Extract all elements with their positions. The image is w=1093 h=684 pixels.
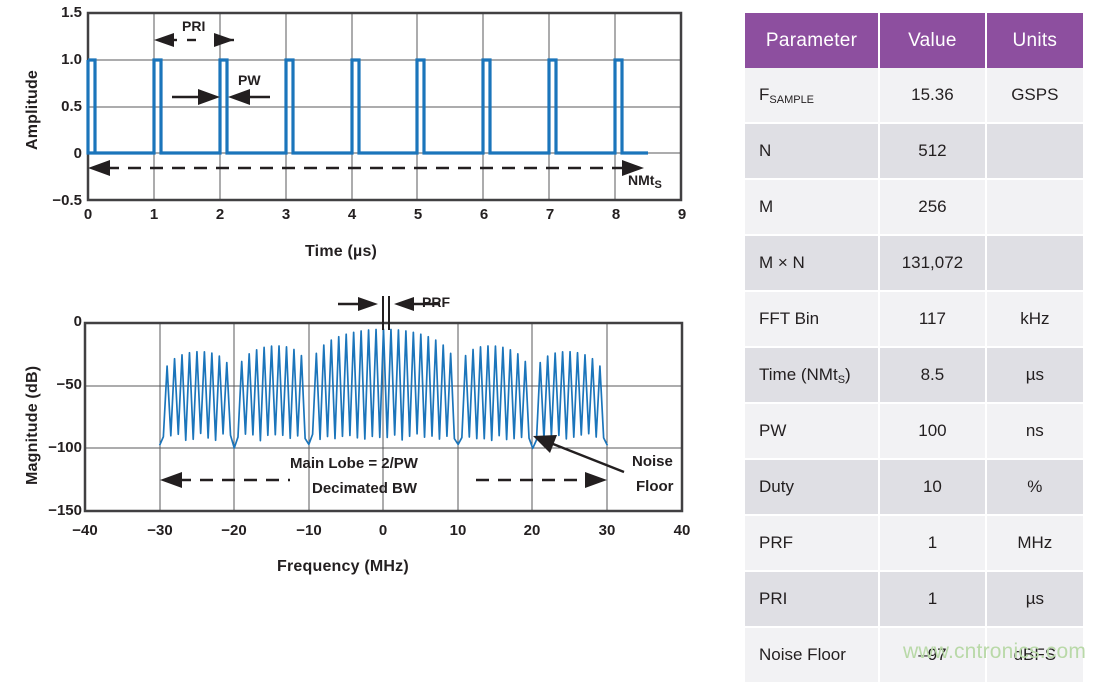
param-subscript: S <box>838 374 845 386</box>
decimated-bw-annotation-label: Decimated BW <box>312 480 417 497</box>
pulse-train-xtick-2: 2 <box>205 206 235 223</box>
spectrum-xtick-m10: −10 <box>284 522 334 539</box>
pulse-train-xtick-1: 1 <box>139 206 169 223</box>
pulse-train-xtick-6: 6 <box>469 206 499 223</box>
prf-annotation-label: PRF <box>422 294 450 310</box>
spectrum-ytick-0: 0 <box>30 313 82 330</box>
table-row: M 256 <box>745 179 1083 235</box>
param-text: F <box>759 85 769 104</box>
param-text: Noise Floor <box>759 645 846 664</box>
table-row: Duty 10 % <box>745 459 1083 515</box>
table-cell-units: kHz <box>986 291 1083 347</box>
figure-root: Amplitude 1.5 1.0 0.5 0 −0.5 0 1 2 3 4 5… <box>0 0 1093 673</box>
table-cell-value: –97 <box>879 627 986 683</box>
table-cell-value: 100 <box>879 403 986 459</box>
table-header-value: Value <box>879 13 986 68</box>
table-cell-value: 8.5 <box>879 347 986 403</box>
table-header-parameter: Parameter <box>745 13 879 68</box>
table-cell-parameter: PW <box>745 403 879 459</box>
spectrum-xtick-30: 30 <box>582 522 632 539</box>
pulse-train-xtick-0: 0 <box>73 206 103 223</box>
table-cell-units: MHz <box>986 515 1083 571</box>
param-text: PRI <box>759 589 787 608</box>
pri-annotation-label: PRI <box>182 18 205 34</box>
pulse-train-xtick-9: 9 <box>667 206 697 223</box>
spectrum-trace <box>160 329 608 448</box>
table-cell-parameter: FFT Bin <box>745 291 879 347</box>
noise-floor-annotation-label-line2: Floor <box>636 478 674 495</box>
table-row: N 512 <box>745 123 1083 179</box>
table-cell-value: 15.36 <box>879 68 986 123</box>
table-cell-value: 117 <box>879 291 986 347</box>
spectrum-xtick-m40: −40 <box>60 522 110 539</box>
param-text: PRF <box>759 533 793 552</box>
nmts-annotation-subscript: S <box>654 179 661 191</box>
table-header-units: Units <box>986 13 1083 68</box>
table-cell-value: 10 <box>879 459 986 515</box>
table-row: PW 100 ns <box>745 403 1083 459</box>
table-cell-value: 131,072 <box>879 235 986 291</box>
table-row: PRF 1 MHz <box>745 515 1083 571</box>
table-header-row: Parameter Value Units <box>745 13 1083 68</box>
spectrum-xtick-m30: −30 <box>135 522 185 539</box>
param-text: PW <box>759 421 786 440</box>
param-text: M × N <box>759 253 805 272</box>
pulse-train-x-axis-label: Time (µs) <box>305 243 377 261</box>
table-cell-parameter: Noise Floor <box>745 627 879 683</box>
spectrum-ytick-m100: −100 <box>22 439 82 456</box>
pw-annotation-label: PW <box>238 72 261 88</box>
spectrum-xtick-20: 20 <box>507 522 557 539</box>
table-row: M × N 131,072 <box>745 235 1083 291</box>
table-cell-value: 512 <box>879 123 986 179</box>
table-row: Noise Floor –97 dBFS <box>745 627 1083 683</box>
table-cell-units: % <box>986 459 1083 515</box>
pulse-train-ytick-0: 0 <box>38 145 82 162</box>
table-cell-value: 1 <box>879 571 986 627</box>
table-cell-units <box>986 123 1083 179</box>
table-cell-units: µs <box>986 347 1083 403</box>
spectrum-xtick-m20: −20 <box>209 522 259 539</box>
param-text: FFT Bin <box>759 309 819 328</box>
pulse-train-xtick-7: 7 <box>535 206 565 223</box>
pulse-train-ytick-1_5: 1.5 <box>38 4 82 21</box>
table-body: FSAMPLE 15.36 GSPS N 512 M 256 M × N 131… <box>745 68 1083 683</box>
table-cell-parameter: N <box>745 123 879 179</box>
noise-floor-annotation-label-line1: Noise <box>632 453 673 470</box>
param-text: Time (NMt <box>759 365 838 384</box>
table-cell-units: µs <box>986 571 1083 627</box>
table-row: FFT Bin 117 kHz <box>745 291 1083 347</box>
table-cell-value: 256 <box>879 179 986 235</box>
param-subscript: SAMPLE <box>769 94 814 106</box>
table-cell-units <box>986 179 1083 235</box>
param-text: Duty <box>759 477 794 496</box>
table-cell-parameter: FSAMPLE <box>745 68 879 123</box>
spectrum-ytick-m50: −50 <box>30 376 82 393</box>
spectrum-xtick-10: 10 <box>433 522 483 539</box>
table-cell-units: GSPS <box>986 68 1083 123</box>
table-cell-parameter: M <box>745 179 879 235</box>
table-row: FSAMPLE 15.36 GSPS <box>745 68 1083 123</box>
spectrum-ytick-m150: −150 <box>22 502 82 519</box>
table-cell-parameter: M × N <box>745 235 879 291</box>
table-cell-units: dBFS <box>986 627 1083 683</box>
table-cell-parameter: Time (NMtS) <box>745 347 879 403</box>
spectrum-x-axis-label: Frequency (MHz) <box>277 558 409 576</box>
table-row: PRI 1 µs <box>745 571 1083 627</box>
table-cell-value: 1 <box>879 515 986 571</box>
nmts-arrow <box>88 160 644 176</box>
pulse-spectrum-chart: Magnitude (dB) 0 −50 −100 −150 −40 −30 −… <box>0 290 740 673</box>
main-lobe-annotation-label: Main Lobe = 2/PW <box>290 455 418 472</box>
pri-arrow <box>154 33 234 47</box>
nmts-annotation-text: NMt <box>628 172 654 188</box>
table-cell-parameter: Duty <box>745 459 879 515</box>
pulse-train-xtick-4: 4 <box>337 206 367 223</box>
parameter-table: Parameter Value Units FSAMPLE 15.36 GSPS… <box>745 13 1083 684</box>
pulse-train-xtick-3: 3 <box>271 206 301 223</box>
pulse-train-xtick-8: 8 <box>601 206 631 223</box>
table-cell-units: ns <box>986 403 1083 459</box>
table-row: Time (NMtS) 8.5 µs <box>745 347 1083 403</box>
table-cell-parameter: PRF <box>745 515 879 571</box>
param-text: N <box>759 141 771 160</box>
pulse-train-chart: Amplitude 1.5 1.0 0.5 0 −0.5 0 1 2 3 4 5… <box>0 0 740 290</box>
nmts-annotation-label: NMtS <box>628 172 662 188</box>
noise-floor-leader-arrow <box>533 435 624 472</box>
table-cell-units <box>986 235 1083 291</box>
spectrum-xtick-0: 0 <box>358 522 408 539</box>
param-text: M <box>759 197 773 216</box>
pulse-train-xtick-5: 5 <box>403 206 433 223</box>
pulse-train-ytick-0_5: 0.5 <box>38 98 82 115</box>
pulse-train-ytick-1_0: 1.0 <box>38 51 82 68</box>
table-cell-parameter: PRI <box>745 571 879 627</box>
spectrum-xtick-40: 40 <box>657 522 707 539</box>
param-tail: ) <box>845 365 851 384</box>
